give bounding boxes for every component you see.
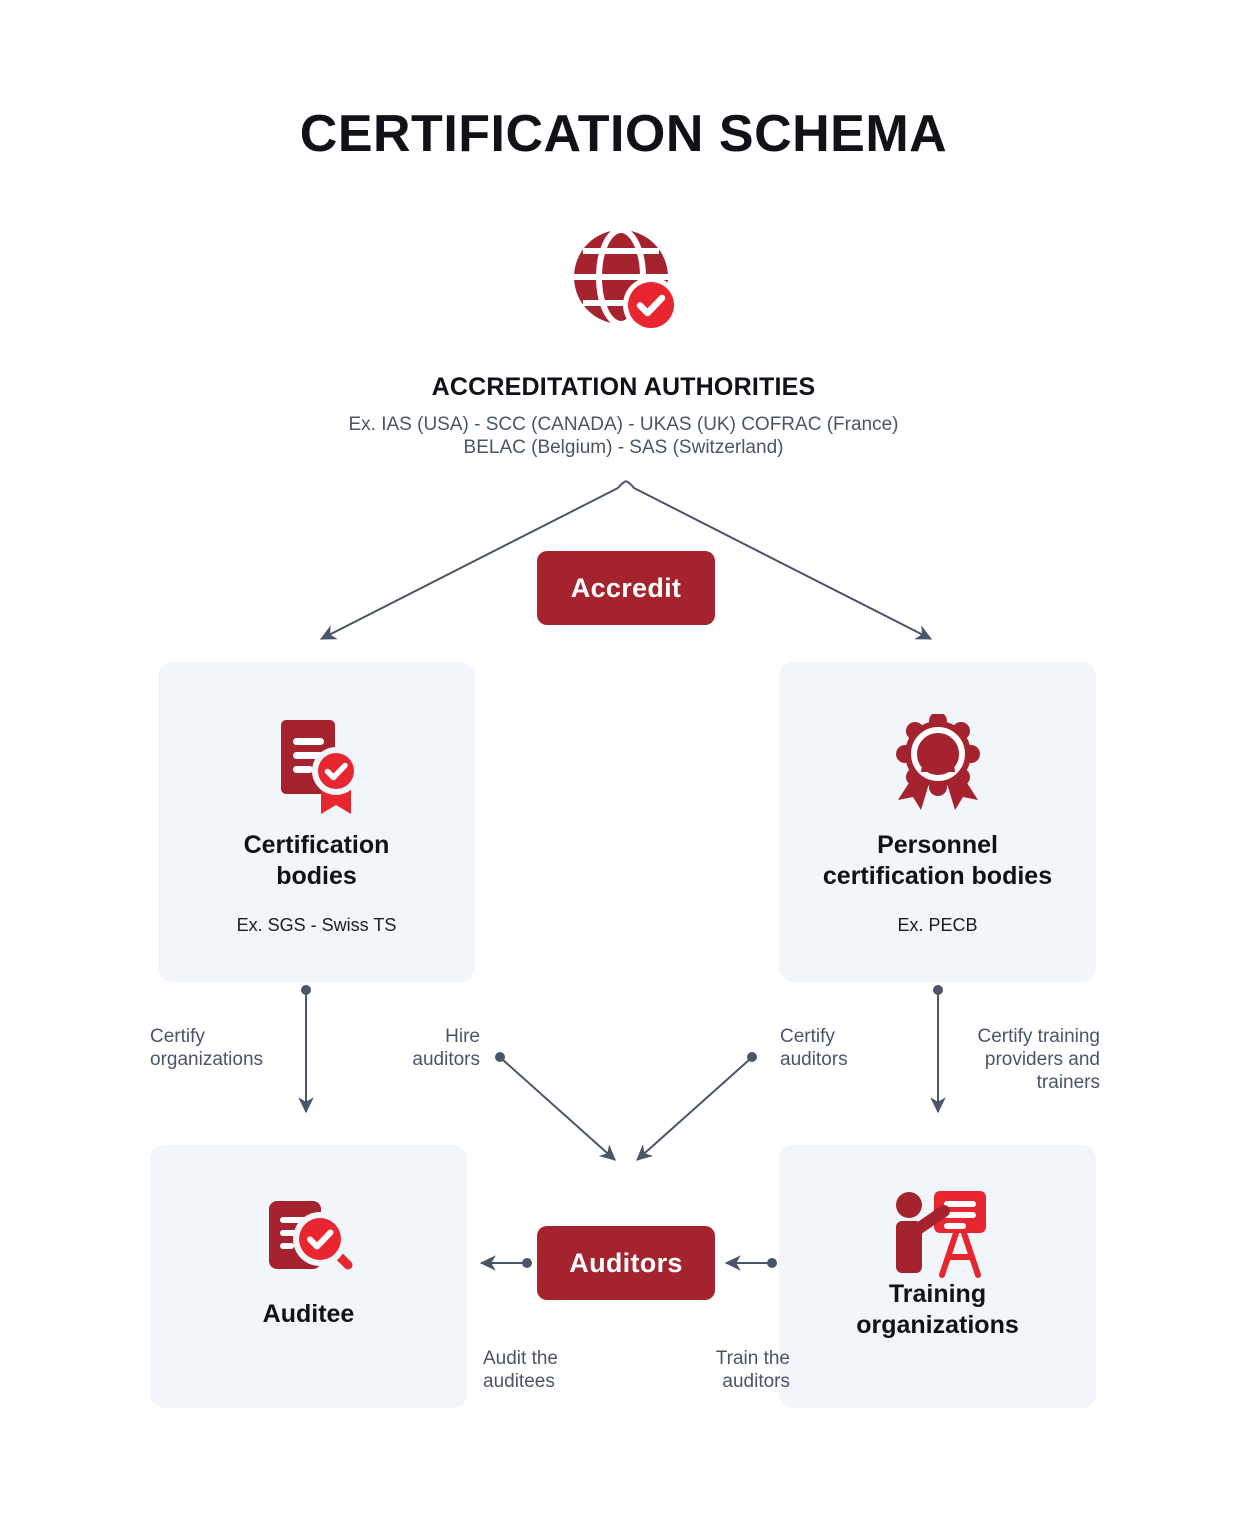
accreditation-examples-line-1: Ex. IAS (USA) - SCC (CANADA) - UKAS (UK)… [0, 413, 1247, 436]
card-title-line-1: Personnel [779, 830, 1096, 861]
card-personnel-certification-bodies[interactable]: Personnel certification bodies Ex. PECB [779, 662, 1096, 982]
page-title: CERTIFICATION SCHEMA [0, 104, 1247, 164]
label-certify-training-providers: Certify training providers and trainers [940, 1025, 1100, 1094]
label-line-1: Train the [640, 1347, 790, 1370]
label-line-2: auditees [483, 1370, 633, 1393]
accredit-badge[interactable]: Accredit [537, 551, 715, 625]
label-line-1: Certify [780, 1025, 900, 1048]
globe-check-icon [566, 225, 686, 335]
trainer-flipchart-icon [779, 1187, 1096, 1279]
label-certify-auditors: Certify auditors [780, 1025, 900, 1071]
card-title-line-2: bodies [158, 861, 475, 892]
label-hire-auditors: Hire auditors [352, 1025, 480, 1071]
person-award-rosette-icon [779, 714, 1096, 814]
card-training-organizations[interactable]: Training organizations [779, 1145, 1096, 1408]
label-line-3: trainers [940, 1071, 1100, 1094]
card-title-line-1: Training [779, 1279, 1096, 1310]
card-personnel-certification-bodies-title: Personnel certification bodies [779, 830, 1096, 892]
card-personnel-certification-bodies-subtitle: Ex. PECB [779, 915, 1096, 936]
label-line-2: auditors [352, 1048, 480, 1071]
card-auditee[interactable]: Auditee [150, 1145, 467, 1408]
arrow-certify-auditors [637, 1052, 757, 1160]
accreditation-authorities-title: ACCREDITATION AUTHORITIES [0, 373, 1247, 402]
accreditation-examples-line-2: BELAC (Belgium) - SAS (Switzerland) [0, 436, 1247, 459]
card-certification-bodies-subtitle: Ex. SGS - Swiss TS [158, 915, 475, 936]
label-line-2: auditors [640, 1370, 790, 1393]
card-title-line-1: Certification [158, 830, 475, 861]
arrow-audit-the-auditees [481, 1258, 532, 1268]
card-title-line-2: organizations [779, 1310, 1096, 1341]
label-certify-organizations: Certify organizations [150, 1025, 330, 1071]
accreditation-authorities-examples: Ex. IAS (USA) - SCC (CANADA) - UKAS (UK)… [0, 413, 1247, 459]
arrow-train-the-auditors [726, 1258, 777, 1268]
label-line-1: Certify [150, 1025, 330, 1048]
label-line-1: Hire [352, 1025, 480, 1048]
card-certification-bodies[interactable]: Certification bodies Ex. SGS - Swiss TS [158, 662, 475, 982]
label-line-2: organizations [150, 1048, 330, 1071]
certificate-document-icon [158, 714, 475, 814]
label-line-2: providers and [940, 1048, 1100, 1071]
card-auditee-title: Auditee [150, 1299, 467, 1330]
label-audit-the-auditees: Audit the auditees [483, 1347, 633, 1393]
diagram-canvas: CERTIFICATION SCHEMA ACCREDITATION AUTHO… [0, 0, 1247, 1520]
document-magnifier-check-icon [150, 1197, 467, 1277]
label-line-1: Certify training [940, 1025, 1100, 1048]
card-title-line-2: certification bodies [779, 861, 1096, 892]
card-training-organizations-title: Training organizations [779, 1279, 1096, 1341]
arrow-hire-auditors [495, 1052, 615, 1160]
label-line-1: Audit the [483, 1347, 633, 1370]
auditors-badge[interactable]: Auditors [537, 1226, 715, 1300]
card-certification-bodies-title: Certification bodies [158, 830, 475, 892]
label-train-the-auditors: Train the auditors [640, 1347, 790, 1393]
label-line-2: auditors [780, 1048, 900, 1071]
